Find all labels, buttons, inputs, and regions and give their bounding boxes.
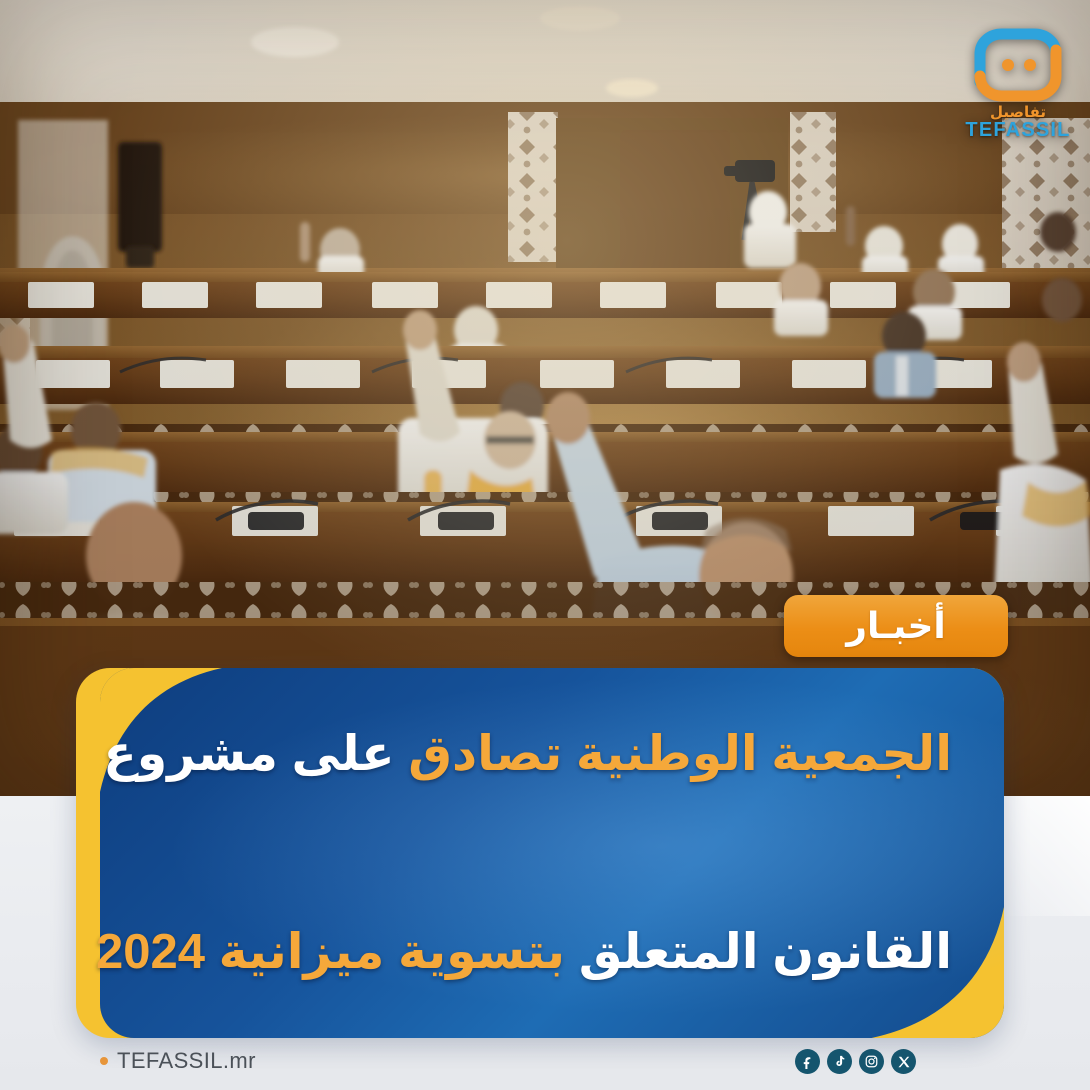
headline-panel: الجمعية الوطنية تصادق على مشروع القانون … — [76, 668, 1004, 1038]
footer-bar: TEFASSIL.mr — [0, 1032, 1090, 1090]
news-category-badge[interactable]: أخبـار — [784, 595, 1008, 657]
tefassil-bracket-icon — [964, 24, 1072, 104]
facebook-icon[interactable] — [795, 1049, 820, 1074]
headline-line-1: الجمعية الوطنية تصادق على مشروع — [128, 726, 952, 784]
logo-latin-text: TEFASSIL — [964, 120, 1072, 140]
headline-line-1-white: على مشروع — [103, 727, 394, 781]
news-category-label: أخبـار — [846, 608, 946, 644]
website-url[interactable]: TEFASSIL.mr — [100, 1048, 256, 1074]
news-card: تفاصيل TEFASSIL أخبـار الجمعية الوطنية ت… — [0, 0, 1090, 1090]
headline-text-block: الجمعية الوطنية تصادق على مشروع القانون … — [76, 668, 1004, 1038]
instagram-icon[interactable] — [859, 1049, 884, 1074]
headline-line-1-orange: الجمعية الوطنية تصادق — [408, 727, 952, 781]
tiktok-icon[interactable] — [827, 1049, 852, 1074]
bullet-dot-icon — [100, 1057, 108, 1065]
tefassil-logo[interactable]: تفاصيل TEFASSIL — [964, 24, 1072, 146]
website-url-label: TEFASSIL.mr — [117, 1048, 256, 1074]
x-twitter-icon[interactable] — [891, 1049, 916, 1074]
headline-line-2-white: القانون المتعلق — [579, 925, 952, 979]
headline-line-2-orange: بتسوية ميزانية 2024 — [96, 925, 565, 979]
social-links — [795, 1049, 916, 1074]
headline-line-2: القانون المتعلق بتسوية ميزانية 2024 — [128, 924, 952, 982]
